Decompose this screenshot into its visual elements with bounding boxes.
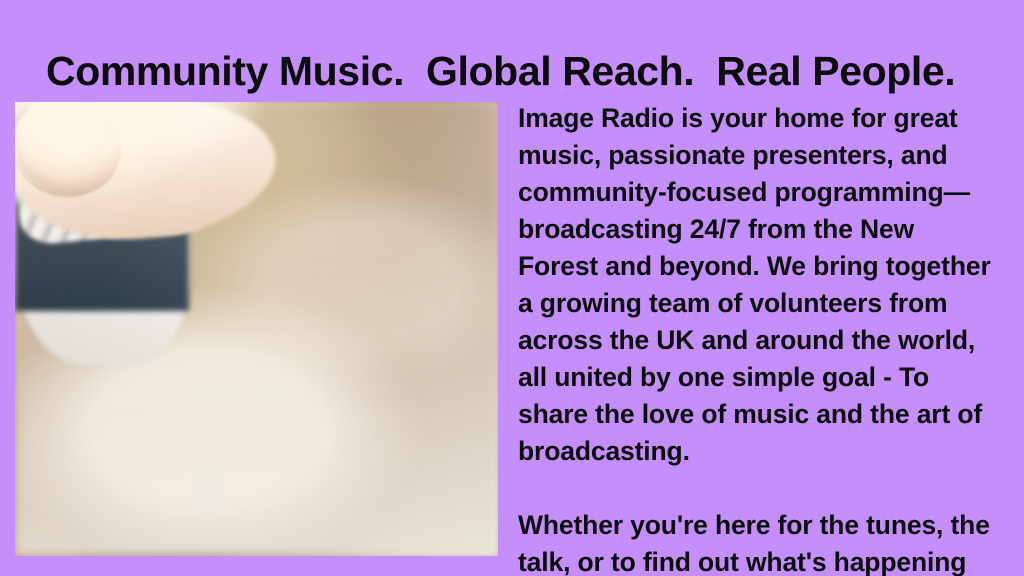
page-title: Community Music. Global Reach. Real Peop…	[46, 46, 986, 96]
fist-bump-teamwork-photo	[15, 102, 498, 556]
body-text-block: Image Radio is your home for great music…	[518, 100, 998, 576]
body-paragraph-1: Image Radio is your home for great music…	[518, 100, 998, 470]
slide-canvas: Community Music. Global Reach. Real Peop…	[0, 0, 1024, 576]
body-paragraph-2: Whether you're here for the tunes, the t…	[518, 507, 998, 576]
